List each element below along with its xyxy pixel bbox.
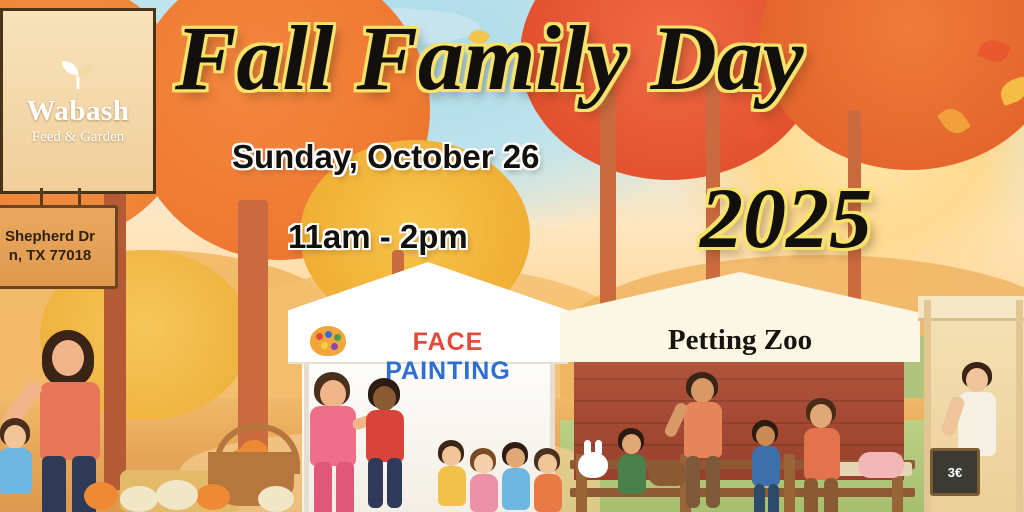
brand-logo-sign: Wabash Feed & Garden	[0, 8, 156, 194]
rabbit-icon	[578, 452, 608, 478]
face-painting-label-part1: FACE	[413, 328, 484, 356]
tent-leg	[304, 358, 309, 512]
page-title: Fall Family Day	[175, 10, 975, 107]
pig-icon	[858, 452, 904, 478]
stall-post	[1016, 300, 1023, 512]
seedling-icon	[56, 57, 100, 91]
face-painting-label: FACE PAINTING	[348, 328, 548, 386]
pumpkin-icon	[84, 482, 118, 510]
address-line-1: Shepherd Dr	[5, 228, 95, 247]
face-painting-label-part2: PAINTING	[385, 357, 511, 385]
brand-tagline: Feed & Garden	[32, 129, 124, 146]
pumpkin-icon	[120, 486, 158, 512]
petting-zoo-label: Petting Zoo	[630, 324, 850, 357]
brand-name: Wabash	[27, 97, 130, 126]
paint-palette-icon	[310, 326, 346, 356]
fall-family-day-poster: Fall Family Day Sunday, October 26 11am …	[0, 0, 1024, 512]
address-sign: Shepherd Dr n, TX 77018	[0, 205, 118, 289]
pumpkin-icon	[196, 484, 230, 510]
dog-icon	[648, 462, 688, 486]
pumpkin-icon	[156, 480, 198, 510]
event-year: 2025	[700, 175, 872, 261]
pumpkin-icon	[258, 486, 294, 512]
price-chalkboard: 3€	[930, 448, 980, 496]
tree-trunk	[104, 150, 126, 490]
event-time: 11am - 2pm	[288, 218, 468, 256]
address-line-2: n, TX 77018	[9, 247, 92, 266]
stall-roof	[918, 296, 1024, 321]
event-date: Sunday, October 26	[232, 138, 539, 176]
